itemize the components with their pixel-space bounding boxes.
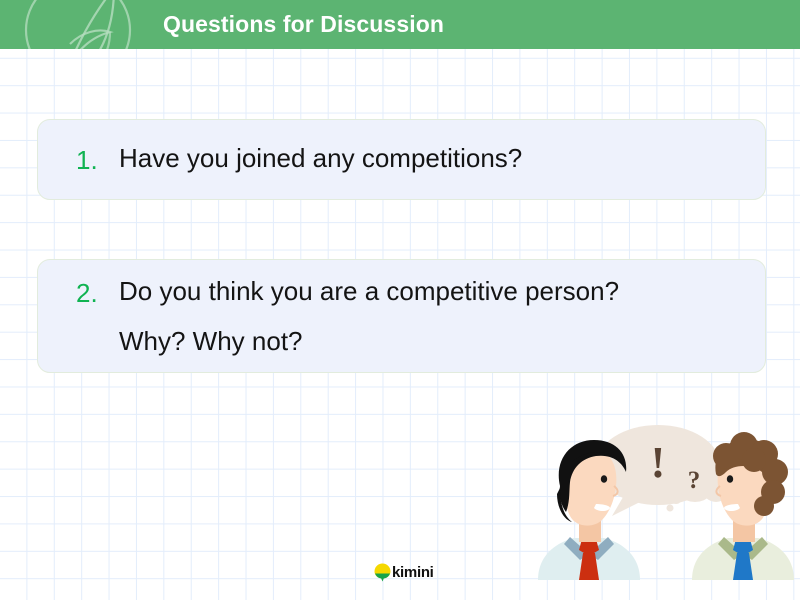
kimini-logo-text: kimini: [392, 565, 434, 580]
kimini-logo: kimini: [374, 562, 434, 582]
speech-bubble-symbol: !: [651, 438, 666, 487]
question-card-2: 2. Do you think you are a competitive pe…: [37, 259, 766, 373]
leaf-logo-watermark-icon: [18, 0, 138, 49]
question-number-1: 1.: [76, 145, 98, 176]
question-text-2-line-2: Why? Why not?: [119, 326, 303, 357]
person-black-hair-figure: [538, 440, 640, 580]
balloon-icon: [374, 563, 391, 582]
question-text-2-line-1: Do you think you are a competitive perso…: [119, 276, 619, 307]
slide-canvas: Questions for Discussion 1. Have you joi…: [0, 0, 800, 600]
question-card-1: 1. Have you joined any competitions?: [37, 119, 766, 200]
slide-header: Questions for Discussion: [0, 0, 800, 49]
thought-bubble-symbol: ?: [688, 467, 701, 494]
question-number-2: 2.: [76, 278, 98, 309]
question-text-1-line-1: Have you joined any competitions?: [119, 143, 522, 174]
page-title: Questions for Discussion: [163, 0, 444, 49]
two-people-talking-illustration: ! ?: [530, 420, 800, 580]
